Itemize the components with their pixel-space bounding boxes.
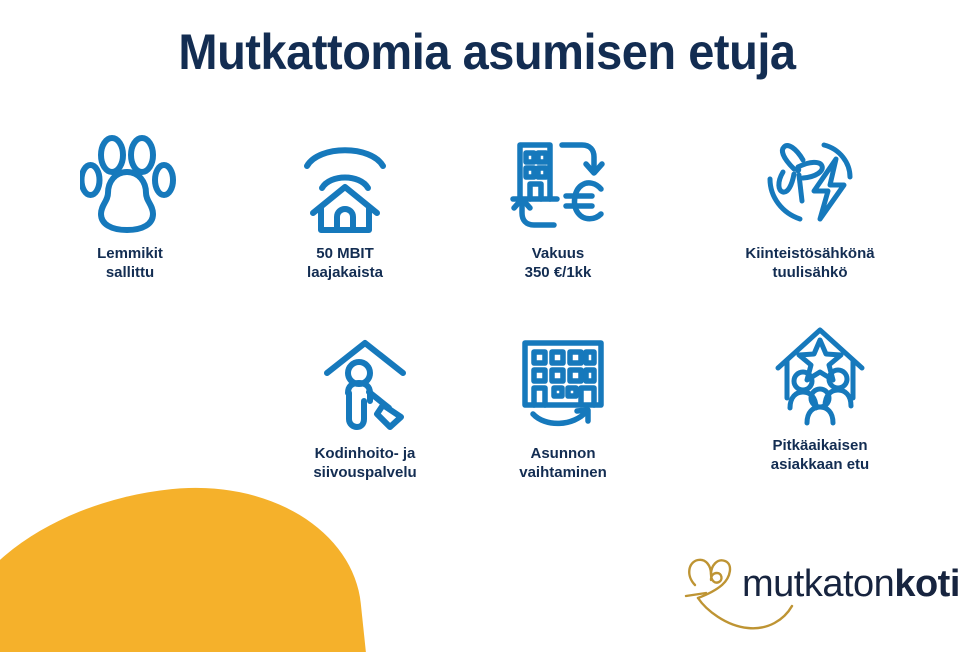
benefit-label: Kiinteistösähkönä tuulisähkö: [695, 244, 925, 282]
benefit-label: Vakuus 350 €/1kk: [463, 244, 653, 282]
benefit-item-broadband: 50 MBIT laajakaista: [250, 132, 440, 282]
benefit-item-deposit: Vakuus 350 €/1kk: [463, 132, 653, 282]
paw-print-icon: [35, 132, 225, 236]
slide-canvas: Mutkattomia asumisen etuja Lemmikit sall…: [0, 0, 974, 652]
benefit-item-pets: Lemmikit sallittu: [35, 132, 225, 282]
brand-logo: mutkatonkoti: [676, 548, 956, 634]
benefit-label: Lemmikit sallittu: [35, 244, 225, 282]
orange-blob-decoration: [0, 471, 371, 652]
logo-word-light: mutkaton: [742, 563, 894, 605]
benefit-label: 50 MBIT laajakaista: [250, 244, 440, 282]
cleaning-person-roof-icon: [270, 332, 460, 436]
benefit-item-cleaning: Kodinhoito- ja siivouspalvelu: [270, 332, 460, 482]
wifi-house-icon: [250, 132, 440, 236]
house-star-family-icon: [705, 324, 935, 428]
benefit-label: Pitkäaikaisen asiakkaan etu: [705, 436, 935, 474]
logo-word-bold: koti: [894, 563, 960, 605]
benefit-item-windpower: Kiinteistösähkönä tuulisähkö: [695, 132, 925, 282]
benefit-label: Kodinhoito- ja siivouspalvelu: [270, 444, 460, 482]
logo-wordmark: mutkatonkoti: [742, 562, 960, 606]
building-euro-exchange-icon: [463, 132, 653, 236]
benefit-item-loyalty: Pitkäaikaisen asiakkaan etu: [705, 324, 935, 474]
benefit-label: Asunnon vaihtaminen: [468, 444, 658, 482]
wind-turbine-lightning-icon: [695, 132, 925, 236]
benefit-item-apartment-swap: Asunnon vaihtaminen: [468, 332, 658, 482]
apartment-swap-icon: [468, 332, 658, 436]
page-title: Mutkattomia asumisen etuja: [29, 22, 945, 82]
